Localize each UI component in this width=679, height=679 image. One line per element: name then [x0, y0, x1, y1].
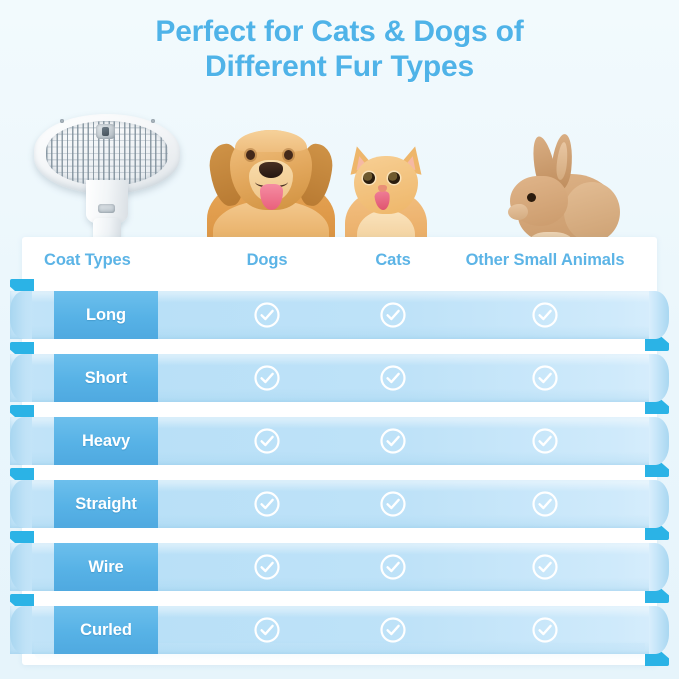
table-row: Curled: [0, 606, 679, 654]
table-row: Straight: [0, 480, 679, 528]
check-circle-icon: [253, 553, 281, 581]
table-row: Heavy: [0, 417, 679, 465]
coat-type-label: Short: [54, 354, 158, 402]
rabbit-snout: [508, 204, 528, 220]
check-circle-icon: [379, 616, 407, 644]
brush-screw-left: [60, 119, 64, 123]
cell-dogs: [202, 480, 332, 528]
rabbit-eye: [527, 193, 536, 202]
cell-other-small-animals: [432, 480, 658, 528]
cell-dogs: [202, 354, 332, 402]
cell-dogs: [202, 606, 332, 654]
check-circle-icon: [253, 616, 281, 644]
check-circle-icon: [253, 364, 281, 392]
cell-other-small-animals: [432, 417, 658, 465]
coat-type-label: Straight: [54, 480, 158, 528]
compatibility-table-card: Coat Types Dogs Cats Other Small Animals…: [22, 237, 657, 665]
coat-type-label: Heavy: [54, 417, 158, 465]
check-circle-icon: [531, 616, 559, 644]
column-header-coat-types: Coat Types: [44, 251, 131, 270]
dog-eye-left: [246, 150, 255, 160]
table-column-header-row: Coat Types Dogs Cats Other Small Animals: [22, 237, 657, 287]
coat-type-label: Long: [54, 291, 158, 339]
check-circle-icon: [379, 490, 407, 518]
brush-release-button: [98, 204, 115, 213]
rabbit-image: [500, 126, 626, 244]
cell-other-small-animals: [432, 606, 658, 654]
check-circle-icon: [253, 301, 281, 329]
table-row: Long: [0, 291, 679, 339]
cat-image: [337, 126, 435, 244]
column-header-dogs: Dogs: [202, 251, 332, 270]
page-title: Perfect for Cats & Dogs of Different Fur…: [0, 14, 679, 85]
rabbit-rump: [564, 182, 620, 242]
cat-eye-left: [363, 172, 375, 184]
cell-dogs: [202, 417, 332, 465]
cell-other-small-animals: [432, 291, 658, 339]
column-header-other-small-animals: Other Small Animals: [432, 251, 658, 270]
check-circle-icon: [379, 301, 407, 329]
check-circle-icon: [379, 364, 407, 392]
cell-dogs: [202, 291, 332, 339]
dog-image: [197, 102, 345, 244]
check-circle-icon: [531, 553, 559, 581]
check-circle-icon: [253, 490, 281, 518]
page-title-line-2: Different Fur Types: [0, 49, 679, 84]
brush-center-hub: [96, 124, 115, 139]
dog-eye-right: [284, 150, 293, 160]
coat-type-label: Wire: [54, 543, 158, 591]
table-row: Short: [0, 354, 679, 402]
check-circle-icon: [379, 427, 407, 455]
cell-dogs: [202, 543, 332, 591]
check-circle-icon: [531, 490, 559, 518]
check-circle-icon: [253, 427, 281, 455]
hero-photo-strip: [0, 96, 679, 244]
check-circle-icon: [531, 427, 559, 455]
check-circle-icon: [531, 364, 559, 392]
check-circle-icon: [379, 553, 407, 581]
page-title-line-1: Perfect for Cats & Dogs of: [155, 15, 523, 48]
cell-other-small-animals: [432, 354, 658, 402]
cat-eye-right: [388, 172, 400, 184]
coat-type-label: Curled: [54, 606, 158, 654]
table-row: Wire: [0, 543, 679, 591]
table-body: Long Short: [0, 287, 679, 665]
infographic-page: Perfect for Cats & Dogs of Different Fur…: [0, 0, 679, 679]
dog-forehead: [235, 130, 307, 152]
cell-other-small-animals: [432, 543, 658, 591]
brush-screw-right: [151, 119, 155, 123]
grooming-brush-image: [34, 106, 180, 248]
check-circle-icon: [531, 301, 559, 329]
